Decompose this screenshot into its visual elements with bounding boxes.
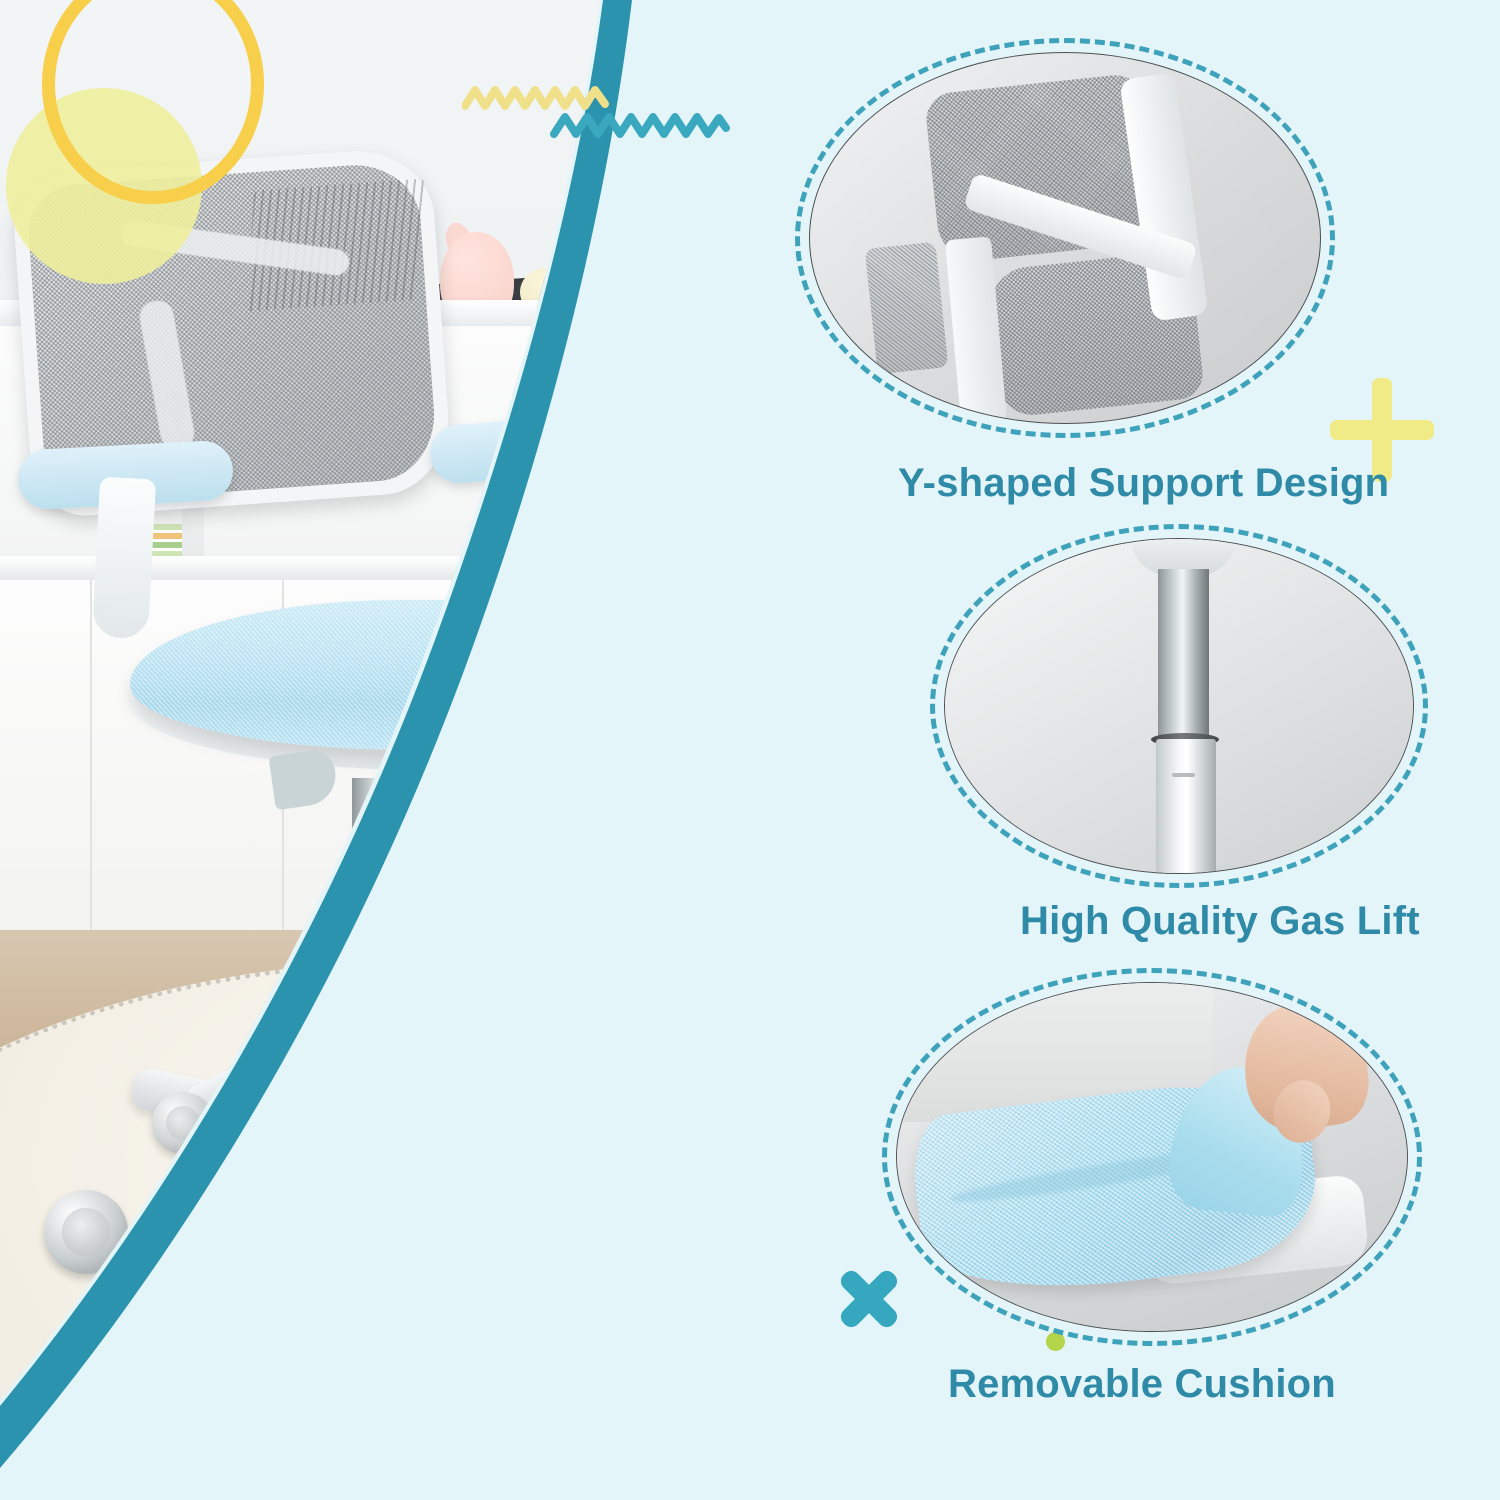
feature-photo-gas-lift [930, 524, 1428, 888]
caster-wheel-left [44, 1190, 128, 1274]
base-leg-back-left [180, 1014, 356, 1122]
gas-lift-column [340, 862, 418, 1077]
mesh-panel-side [865, 242, 949, 375]
cabinet-seam-3 [474, 580, 476, 960]
feature-photo-removable-cushion [882, 968, 1422, 1346]
photo-gas-lift [944, 538, 1414, 874]
infographic-canvas: Y-shaped Support Design High Quality Gas… [0, 0, 1500, 1500]
chair-seat-cushion [130, 600, 730, 750]
caster-wheel-back-left [152, 1092, 214, 1154]
zigzag-teal-decoration [550, 108, 730, 144]
cabinet-seam-5 [820, 580, 822, 960]
gas-lift-white-sleeve [1156, 739, 1217, 873]
gas-lift-collar [338, 856, 420, 870]
cabinet-seam-4 [666, 580, 668, 960]
base-leg-right [379, 1060, 652, 1157]
base-leg-front [356, 1109, 412, 1271]
book-orange [508, 566, 668, 583]
chair-arm-post-left [92, 477, 156, 640]
shelf-post-right [600, 330, 622, 580]
book-pages-2 [508, 580, 668, 590]
chair-armrest-right [428, 409, 652, 486]
gas-lift-chrome-rod [1158, 569, 1209, 743]
feature-caption-y-shaped-support: Y-shaped Support Design [898, 461, 1389, 506]
base-hub [320, 1050, 440, 1120]
caster-wheel-back-right [552, 1090, 614, 1152]
chair-arm-post-right [534, 451, 592, 624]
caster-wheel-front [348, 1268, 426, 1346]
photo-removable-cushion [896, 982, 1408, 1332]
caster-wheel-right [650, 1188, 734, 1272]
feature-caption-removable-cushion: Removable Cushion [948, 1362, 1336, 1407]
height-adjust-lever [269, 748, 340, 810]
gas-lift-upper [352, 778, 408, 878]
gas-lift-marking [1172, 773, 1195, 778]
photo-y-shaped-support [809, 52, 1321, 424]
base-leg-back-right [432, 1011, 618, 1120]
feature-caption-gas-lift: High Quality Gas Lift [1020, 899, 1420, 944]
feature-photo-y-shaped-support [795, 38, 1335, 438]
support-rib-vertical [945, 236, 1007, 424]
